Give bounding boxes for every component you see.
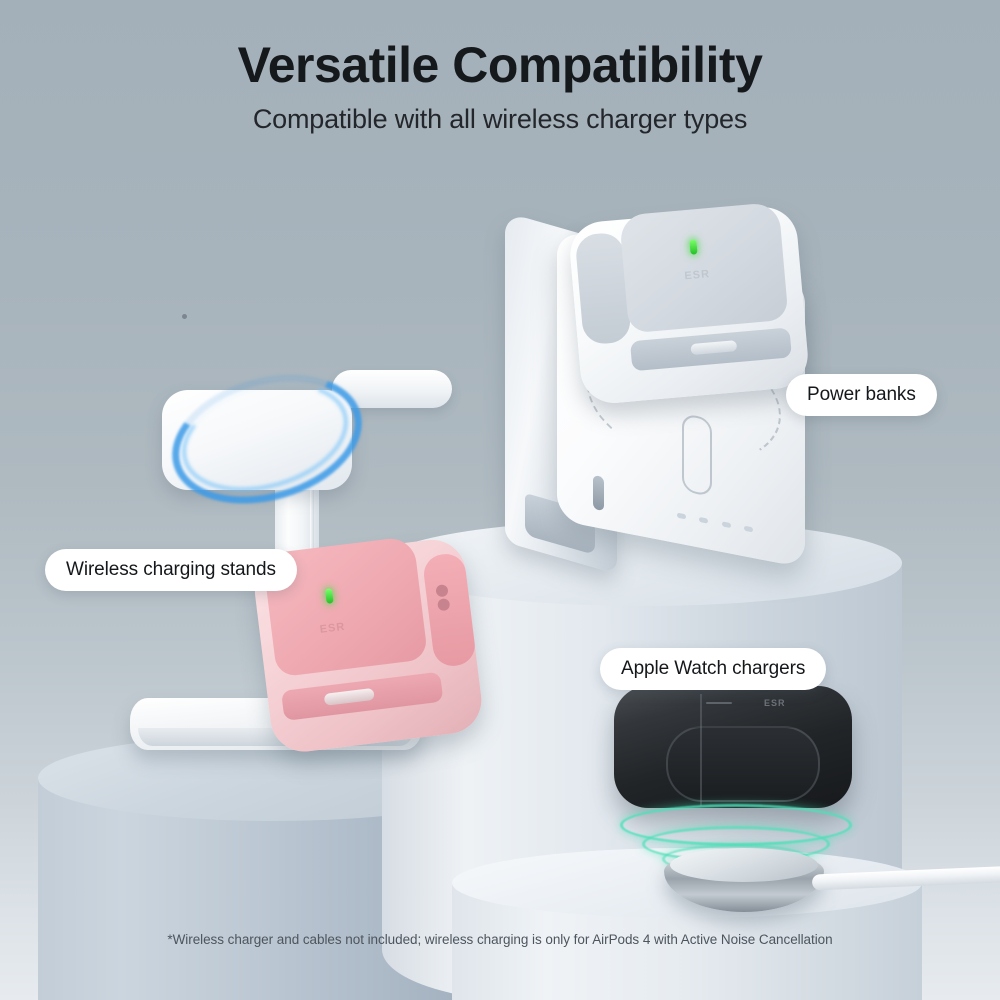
stand-base-led-icon [182,314,187,319]
airpods-case-white: ESR [567,200,813,409]
callout-power-banks: Power banks [786,374,937,416]
callout-label: Power banks [807,384,916,406]
apple-watch-puck-surface [670,848,818,882]
callout-label: Wireless charging stands [66,559,276,581]
page-title: Versatile Compatibility [0,0,1000,92]
power-bank-usbc-port-icon [593,475,604,511]
callout-wireless-charging-stands: Wireless charging stands [45,549,297,591]
power-bank-magsafe-marker-icon [682,413,712,497]
footnote-disclaimer: *Wireless charger and cables not include… [0,932,1000,947]
black-case-seam [700,694,702,806]
white-case-brand-logo: ESR [684,268,711,282]
page-subtitle: Compatible with all wireless charger typ… [0,92,1000,135]
black-case-top-marker [706,702,732,704]
callout-apple-watch-chargers: Apple Watch chargers [600,648,826,690]
white-case-status-led-icon [689,239,697,255]
header: Versatile Compatibility Compatible with … [0,0,1000,135]
product-marketing-image: Versatile Compatibility Compatible with … [0,0,1000,1000]
callout-label: Apple Watch chargers [621,658,805,680]
charging-cable [812,861,1000,890]
apple-watch-charger-set: ESR [606,686,906,916]
wireless-charging-stand: ESR [120,270,450,770]
black-case-inner-panel [666,726,820,802]
airpods-case-black: ESR [614,686,852,808]
black-case-brand-logo: ESR [764,698,786,708]
power-bank: ESR [505,218,825,548]
